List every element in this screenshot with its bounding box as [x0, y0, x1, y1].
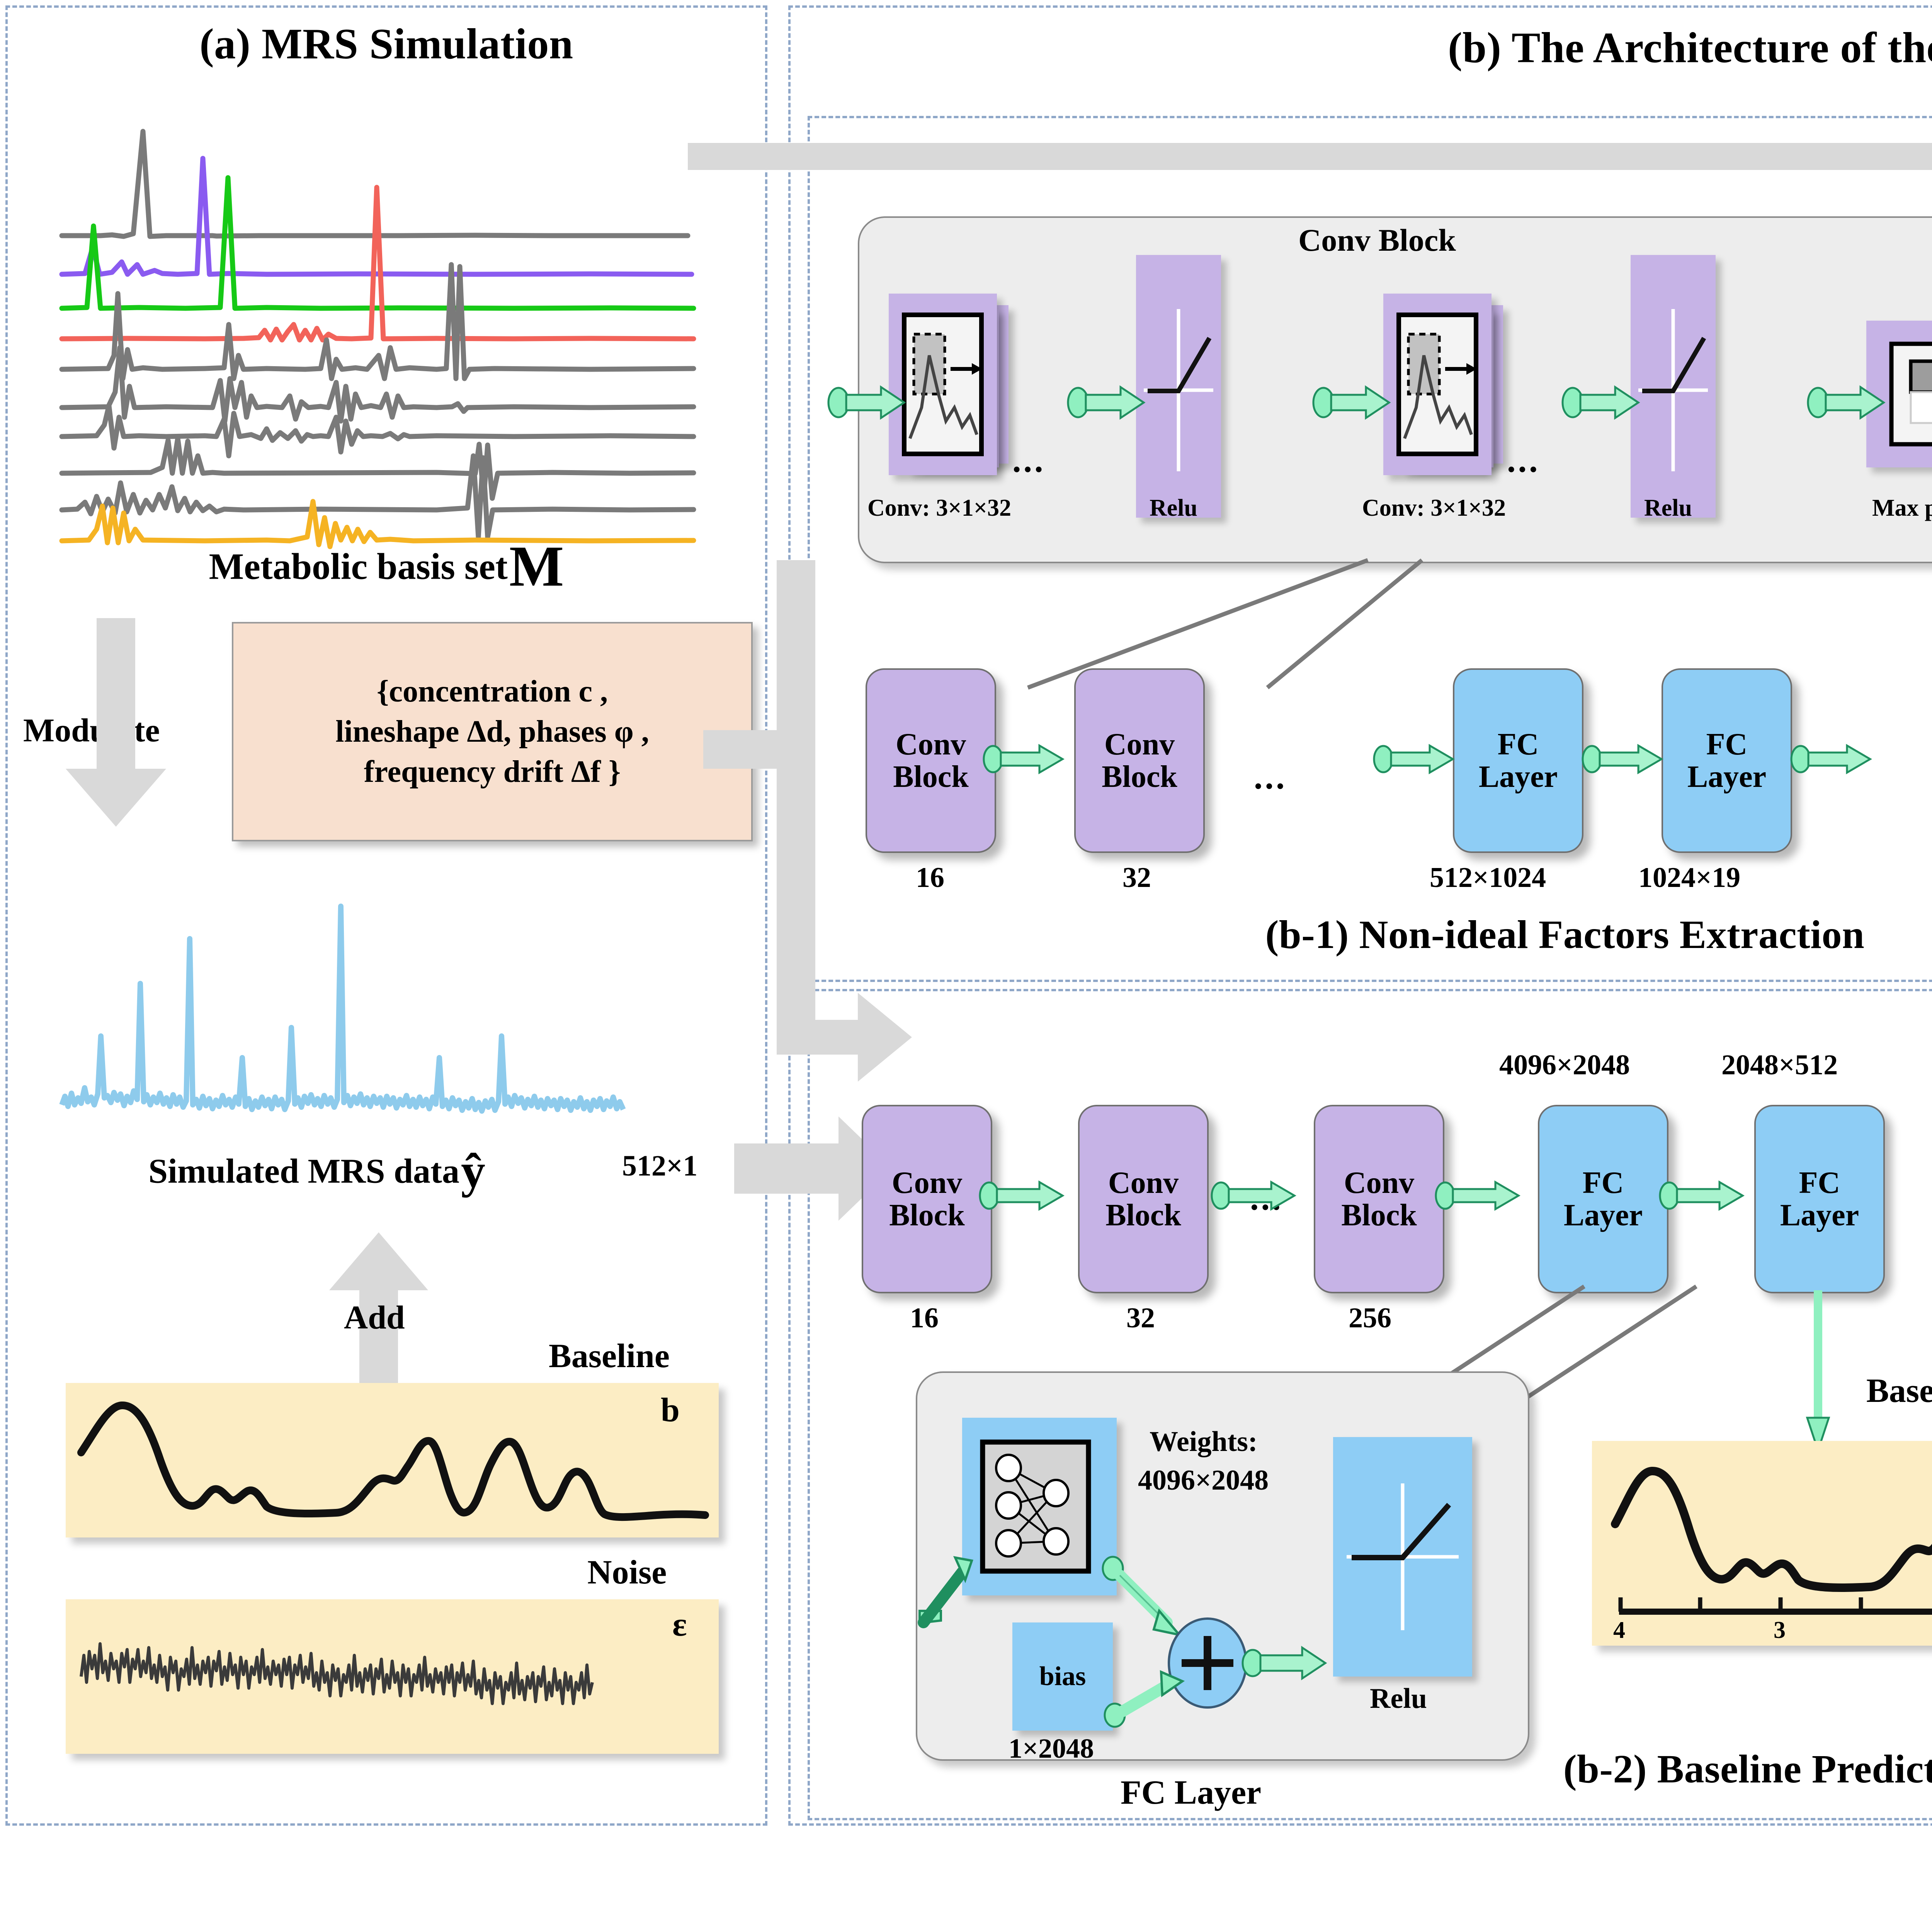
- b1-pipeline-green-arrows: [981, 738, 1878, 784]
- simulated-mrs-symbol: ŷ: [461, 1144, 485, 1198]
- baseline-curve-chart: [66, 1383, 719, 1537]
- simulated-mrs-dim: 512×1: [622, 1149, 697, 1183]
- conv-detail-green-arrows: [831, 379, 1932, 433]
- panel-b2-title: (b-2) Baseline Prediction: [1294, 1746, 1932, 1792]
- simulated-data-feed-arrow: [649, 560, 912, 1147]
- noise-symbol-a: ε: [672, 1605, 687, 1644]
- b2-axis-tick-3: 3: [1774, 1617, 1786, 1644]
- panel-b-title: (b) The Architecture of the Qnet with th…: [811, 23, 1932, 73]
- baseline-box: [66, 1383, 719, 1537]
- relu2-label: Relu: [1644, 494, 1692, 522]
- simulated-mrs-caption: Simulated MRS data ŷ: [23, 1143, 611, 1199]
- b2-node-0[interactable]: Conv Block: [862, 1105, 992, 1293]
- b2-node-4-dim: 2048×512: [1721, 1049, 1838, 1082]
- b2-node-3-dim: 4096×2048: [1499, 1049, 1630, 1082]
- modulate-arrow: [62, 618, 170, 834]
- params-line-2: lineshape Δd, phases φ ,: [335, 712, 649, 752]
- baseline-symbol-a: b: [661, 1391, 680, 1430]
- b2-axis-tick-4: 4: [1613, 1617, 1625, 1644]
- baseline-label-a: Baseline: [549, 1337, 670, 1376]
- b1-node-3-dim: 1024×19: [1638, 861, 1740, 894]
- params-line-1: {concentration c ,: [377, 671, 608, 712]
- b1-node-2-dim: 512×1024: [1430, 861, 1546, 894]
- fc-layer-detail-title: FC Layer: [1121, 1773, 1261, 1812]
- b2-baseline-box: 4 3 2 1 ppm b̂: [1592, 1441, 1932, 1646]
- fc-relu-card: [1333, 1437, 1472, 1677]
- conv1-ellipsis: ...: [1012, 440, 1046, 480]
- b1-node-0-dim: 16: [916, 861, 944, 894]
- add-label: Add: [344, 1298, 405, 1337]
- b2-baseline-title: Baseline: [1866, 1371, 1932, 1410]
- relu1-label: Relu: [1150, 494, 1197, 522]
- b1-node-1-dim: 32: [1122, 861, 1151, 894]
- simulated-mrs-label: Simulated MRS data: [148, 1152, 459, 1191]
- b2-node-0-label: Conv Block: [889, 1167, 965, 1232]
- relu-curve-icon-fc: [1333, 1437, 1472, 1677]
- conv2-ellipsis: ...: [1507, 440, 1540, 480]
- fc-relu-label: Relu: [1370, 1682, 1427, 1715]
- metabolic-basis-set-caption: Metabolic basis set M: [23, 533, 750, 600]
- metabolic-basis-set-chart: [50, 108, 707, 541]
- params-line-3: frequency drift Δf }: [364, 752, 621, 792]
- noise-box: [66, 1599, 719, 1754]
- noise-curve-chart: [66, 1599, 719, 1754]
- maxpool-label: Max pool: [1872, 494, 1932, 522]
- b2-node-0-dim: 16: [910, 1302, 939, 1335]
- panel-b1-title: (b-1) Non-ideal Factors Extraction: [889, 912, 1932, 958]
- simulated-mrs-data-chart: [58, 873, 730, 1143]
- noise-label-a: Noise: [587, 1553, 667, 1592]
- fc-to-baseline-green-arrow: [1803, 1290, 1833, 1453]
- b2-node-1-dim: 32: [1126, 1302, 1155, 1335]
- panel-a-title: (a) MRS Simulation: [23, 19, 750, 69]
- b1-node-0-label: Conv Block: [893, 728, 969, 793]
- predicted-baseline-axis: [1592, 1588, 1932, 1626]
- b1-node-0[interactable]: Conv Block: [866, 668, 996, 853]
- b2-pipeline-green-arrows: [978, 1174, 1905, 1221]
- conv-block-detail-title: Conv Block: [1298, 222, 1456, 258]
- basis-set-label: Metabolic basis set: [209, 546, 508, 587]
- conv1-label: Conv: 3×1×32: [867, 494, 1011, 522]
- basis-set-symbol: M: [509, 534, 564, 598]
- conv2-label: Conv: 3×1×32: [1362, 494, 1506, 522]
- conv-detail-leader-lines: [958, 560, 1538, 699]
